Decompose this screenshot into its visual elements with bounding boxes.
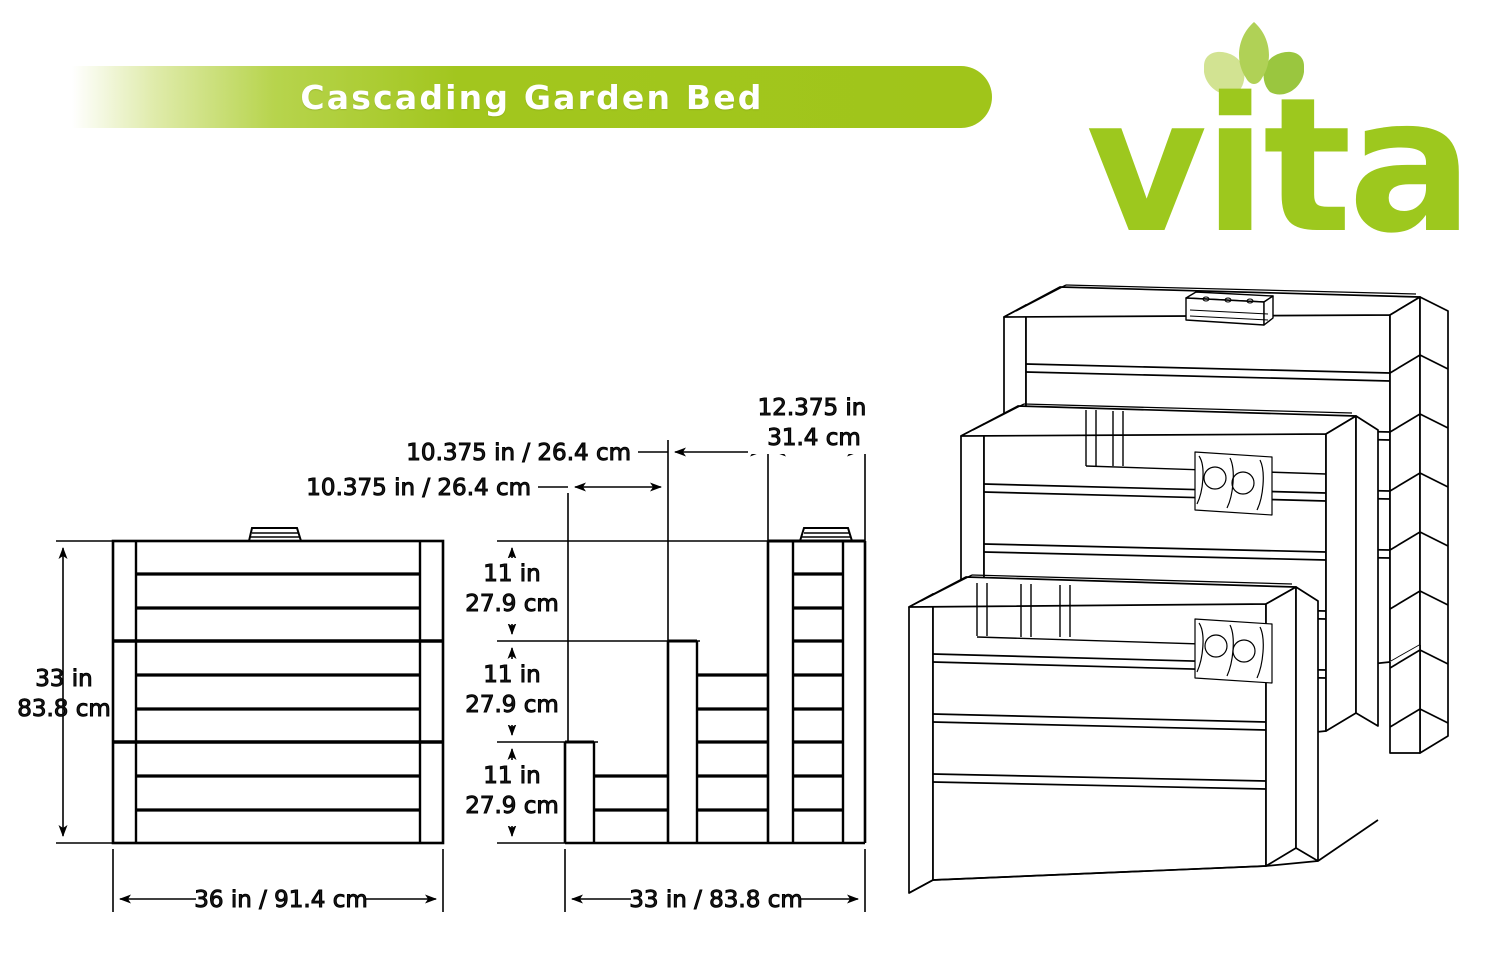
front-width-label: 36 in / 91.4 cm: [194, 887, 368, 913]
side-tier3-label-in: 11 in: [483, 763, 541, 789]
side-width-label: 33 in / 83.8 cm: [629, 887, 803, 913]
screenshot-root: Cascading Garden Bed vita: [0, 0, 1500, 971]
front-height-label-cm: 83.8 cm: [17, 696, 111, 722]
side-tier1-label-in: 11 in: [483, 561, 541, 587]
front-elevation: [113, 528, 443, 843]
depth-label-lower: 10.375 in / 26.4 cm: [306, 475, 531, 501]
top-depth-label-cm: 31.4 cm: [767, 425, 861, 451]
side-elevation-cascade: [565, 528, 865, 843]
side-tier3-label-cm: 27.9 cm: [465, 793, 559, 819]
depth-label-upper: 10.375 in / 26.4 cm: [406, 440, 631, 466]
side-tier2-label-cm: 27.9 cm: [465, 692, 559, 718]
technical-drawing: 33 in 83.8 cm 36 in / 91.4 cm: [0, 0, 1500, 971]
front-height-dimension: [56, 541, 140, 843]
top-depth-label-in: 12.375 in: [758, 395, 867, 421]
isometric-3d-view: [909, 285, 1448, 893]
front-height-label-in: 33 in: [35, 666, 93, 692]
side-tier1-label-cm: 27.9 cm: [465, 591, 559, 617]
side-tier2-label-in: 11 in: [483, 662, 541, 688]
